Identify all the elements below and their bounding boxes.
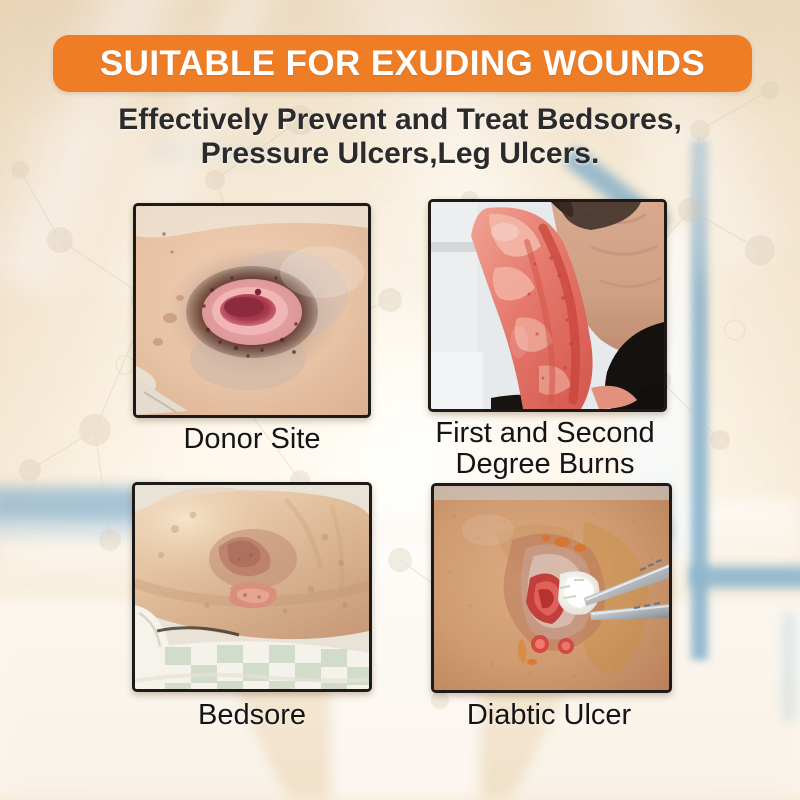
wound-image-diabetic-ulcer [434,486,669,690]
subtitle-line-2: Pressure Ulcers,Leg Ulcers. [0,137,800,171]
caption-donor-site: Donor Site [133,424,371,455]
promotional-poster: SUITABLE FOR EXUDING WOUNDS Effectively … [0,0,800,800]
headline-text: SUITABLE FOR EXUDING WOUNDS [100,46,705,81]
caption-burns: First and Second Degree Burns [420,418,670,479]
caption-bedsore: Bedsore [132,700,372,731]
caption-diabetic-ulcer-line-1: Diabtic Ulcer [425,700,673,731]
subtitle-line-1: Effectively Prevent and Treat Bedsores, [0,103,800,137]
photo-burns [428,199,667,412]
caption-diabetic-ulcer: Diabtic Ulcer [425,700,673,731]
photo-diabetic-ulcer [431,483,672,693]
caption-bedsore-line-1: Bedsore [132,700,372,731]
wound-image-burns [431,202,664,409]
photo-bedsore [132,482,372,692]
caption-burns-line-2: Degree Burns [420,449,670,480]
headline-banner: SUITABLE FOR EXUDING WOUNDS [53,35,752,92]
wound-image-donor-site [136,206,368,415]
wound-image-bedsore [135,485,369,689]
subtitle-block: Effectively Prevent and Treat Bedsores, … [0,103,800,170]
caption-burns-line-1: First and Second [420,418,670,449]
caption-donor-site-line-1: Donor Site [133,424,371,455]
photo-donor-site [133,203,371,418]
